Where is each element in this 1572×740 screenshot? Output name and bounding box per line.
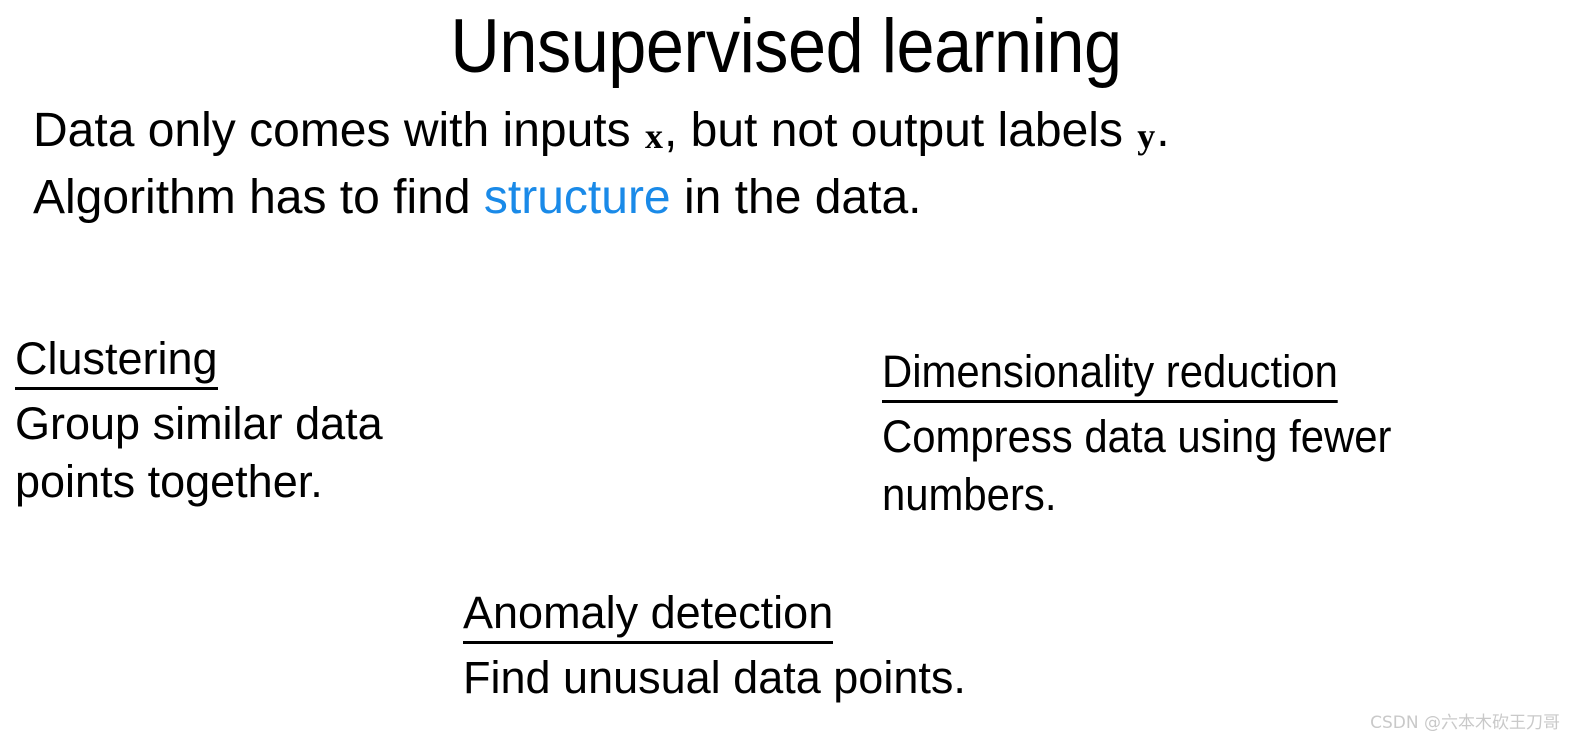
concept-block-dimensionality-reduction: Dimensionality reduction Compress data u… <box>882 345 1430 524</box>
page-title: Unsupervised learning <box>79 2 1494 92</box>
anomaly-detection-heading: Anomaly detection <box>463 586 833 644</box>
dimensionality-reduction-body: Compress data using fewer numbers. <box>882 408 1391 524</box>
intro-paragraph: Data only comes with inputs x, but not o… <box>33 100 1533 229</box>
intro-line-1: Data only comes with inputs x, but not o… <box>33 100 1533 167</box>
clustering-heading: Clustering <box>15 332 218 390</box>
intro-line-2: Algorithm has to find structure in the d… <box>33 167 1533 229</box>
intro-line-1-text-c: . <box>1156 104 1169 157</box>
concept-block-anomaly-detection: Anomaly detection Find unusual data poin… <box>463 586 966 707</box>
clustering-body-line-2: points together. <box>15 453 383 511</box>
variable-x: x <box>644 116 664 156</box>
intro-line-2-text-a: Algorithm has to find <box>33 171 484 224</box>
dimensionality-reduction-body-line-2: numbers. <box>882 466 1391 524</box>
anomaly-detection-body-line-1: Find unusual data points. <box>463 649 966 707</box>
slide-canvas: Unsupervised learning Data only comes wi… <box>0 0 1572 740</box>
concept-block-clustering: Clustering Group similar data points tog… <box>15 332 383 511</box>
intro-line-1-text-b: , but not output labels <box>664 104 1136 157</box>
dimensionality-reduction-heading: Dimensionality reduction <box>882 345 1338 403</box>
variable-y: y <box>1136 116 1156 156</box>
intro-line-1-text-a: Data only comes with inputs <box>33 104 644 157</box>
dimensionality-reduction-body-line-1: Compress data using fewer <box>882 408 1391 466</box>
clustering-body: Group similar data points together. <box>15 395 383 511</box>
clustering-body-line-1: Group similar data <box>15 395 383 453</box>
intro-line-2-text-b: in the data. <box>671 171 922 224</box>
anomaly-detection-body: Find unusual data points. <box>463 649 966 707</box>
structure-keyword: structure <box>484 171 671 224</box>
csdn-watermark: CSDN @六本木砍王刀哥 <box>1370 712 1560 734</box>
